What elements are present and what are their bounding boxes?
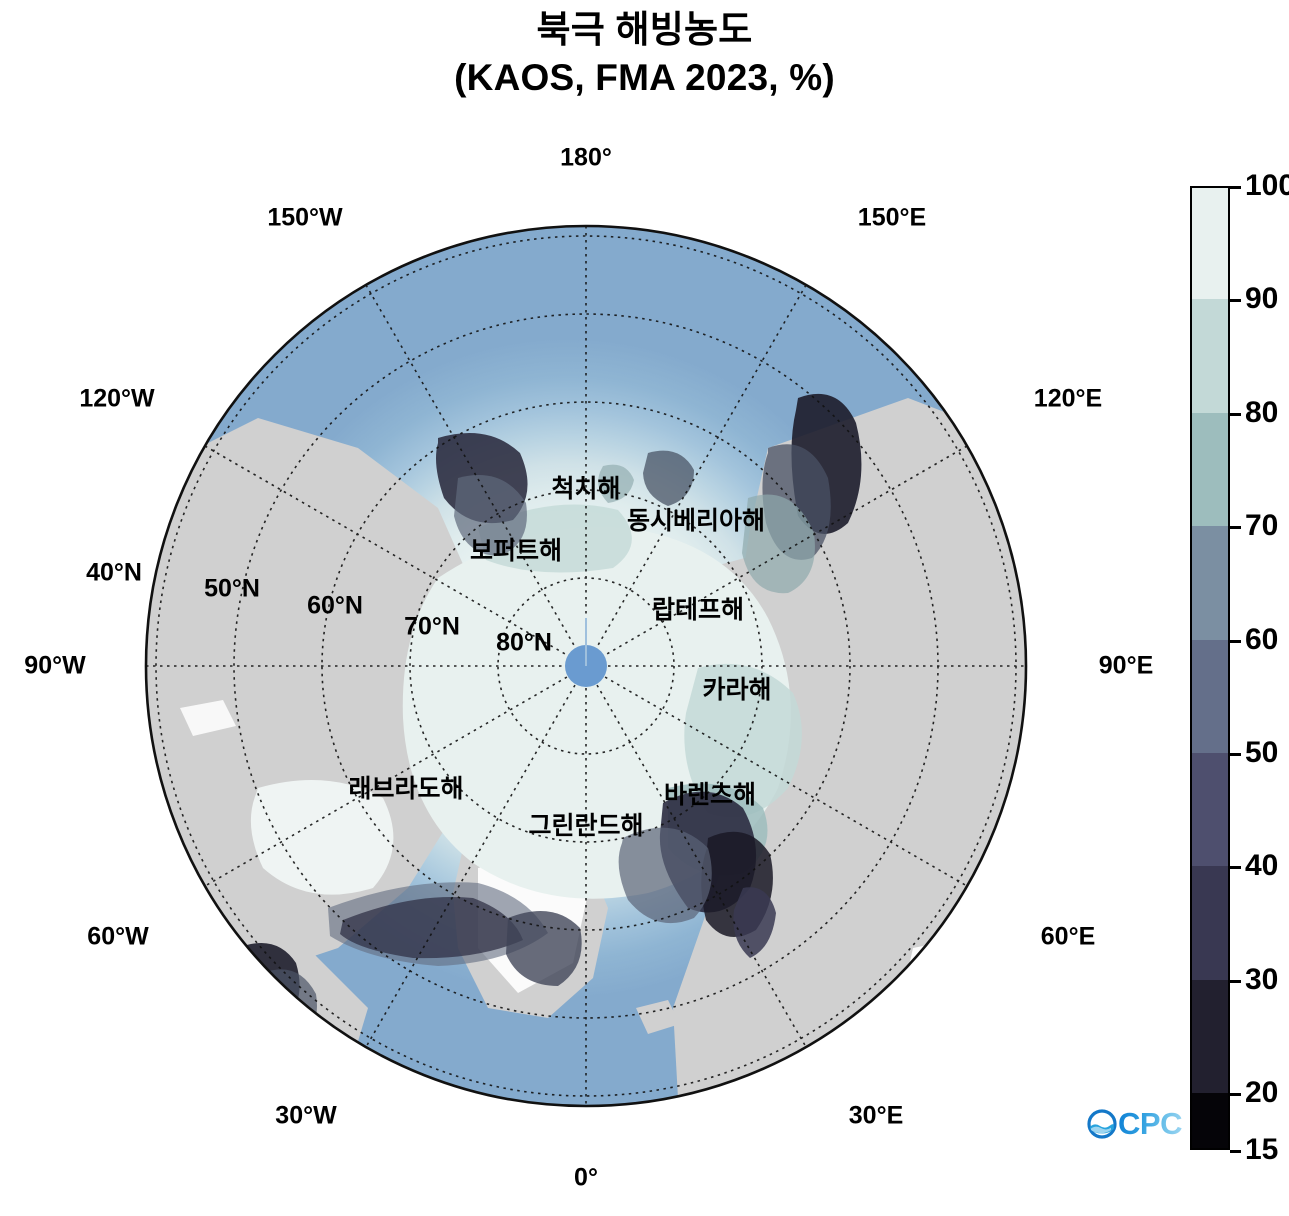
colorbar-tick-20	[1230, 1093, 1241, 1096]
colorbar-tick-90	[1230, 299, 1241, 302]
lon-label-90w: 90°W	[24, 652, 85, 681]
colorbar-band-20-30	[1190, 980, 1230, 1093]
lon-label-30e: 30°E	[849, 1102, 903, 1131]
colorbar-band-30-40	[1190, 866, 1230, 979]
sea-label-laptev: 랍테프해	[652, 590, 744, 626]
title-line-2: (KAOS, FMA 2023, %)	[0, 54, 1289, 102]
colorbar-tick-40	[1230, 866, 1241, 869]
sea-label-beaufort: 보퍼트해	[470, 531, 562, 567]
colorbar-band-60-70	[1190, 526, 1230, 639]
colorbar: 100908070605040302015	[1190, 186, 1230, 1150]
lon-label-150w: 150°W	[267, 204, 342, 233]
cpc-logo-text: CPC	[1118, 1108, 1182, 1139]
lat-label-50n: 50°N	[204, 575, 260, 604]
lon-label-30w: 30°W	[275, 1102, 336, 1131]
map-canvas	[8, 148, 1168, 1216]
page-title: 북극 해빙농도 (KAOS, FMA 2023, %)	[0, 6, 1289, 102]
colorbar-label-40: 40	[1245, 849, 1278, 883]
colorbar-label-80: 80	[1245, 396, 1278, 430]
globe-icon	[1087, 1109, 1117, 1139]
lon-label-180: 180°	[560, 144, 612, 173]
arctic-map: 180° 150°W 120°W 90°W 60°W 30°W 0° 30°E …	[8, 148, 1168, 1216]
colorbar-label-15: 15	[1245, 1133, 1278, 1167]
sea-label-chukchi: 척치해	[551, 469, 620, 505]
sea-label-greenland: 그린란드해	[528, 806, 643, 842]
colorbar-label-30: 30	[1245, 963, 1278, 997]
lon-label-90e: 90°E	[1099, 652, 1153, 681]
sea-label-kara: 카라해	[702, 670, 771, 706]
colorbar-label-70: 70	[1245, 509, 1278, 543]
colorbar-tick-30	[1230, 980, 1241, 983]
map-content	[103, 226, 1070, 1158]
colorbar-tick-50	[1230, 753, 1241, 756]
colorbar-band-15-20	[1190, 1093, 1230, 1150]
title-line-1: 북극 해빙농도	[0, 6, 1289, 54]
colorbar-label-20: 20	[1245, 1076, 1278, 1110]
sea-label-labrador: 래브라도해	[348, 769, 463, 805]
lon-label-60e: 60°E	[1041, 923, 1095, 952]
lat-label-70n: 70°N	[404, 613, 460, 642]
lon-label-0: 0°	[574, 1164, 598, 1193]
colorbar-label-50: 50	[1245, 736, 1278, 770]
colorbar-tick-100	[1230, 186, 1241, 189]
colorbar-label-100: 100	[1245, 169, 1289, 203]
lon-label-150e: 150°E	[858, 204, 926, 233]
lon-label-120w: 120°W	[79, 385, 154, 414]
lat-label-40n: 40°N	[86, 559, 142, 588]
colorbar-tick-70	[1230, 526, 1241, 529]
colorbar-label-90: 90	[1245, 282, 1278, 316]
colorbar-label-60: 60	[1245, 623, 1278, 657]
lon-label-60w: 60°W	[87, 923, 148, 952]
lat-label-60n: 60°N	[307, 592, 363, 621]
colorbar-band-80-90	[1190, 299, 1230, 412]
sea-label-east-siberian: 동시베리아해	[627, 501, 765, 537]
colorbar-band-90-100	[1190, 186, 1230, 299]
cpc-logo: CPC	[1087, 1108, 1182, 1139]
colorbar-tick-15	[1230, 1150, 1241, 1153]
colorbar-tick-60	[1230, 640, 1241, 643]
sea-label-barents: 바렌츠해	[664, 775, 756, 811]
lon-label-120e: 120°E	[1034, 385, 1102, 414]
lat-label-80n: 80°N	[496, 629, 552, 658]
colorbar-band-70-80	[1190, 413, 1230, 526]
colorbar-band-40-50	[1190, 753, 1230, 866]
colorbar-band-50-60	[1190, 640, 1230, 753]
colorbar-tick-80	[1230, 413, 1241, 416]
